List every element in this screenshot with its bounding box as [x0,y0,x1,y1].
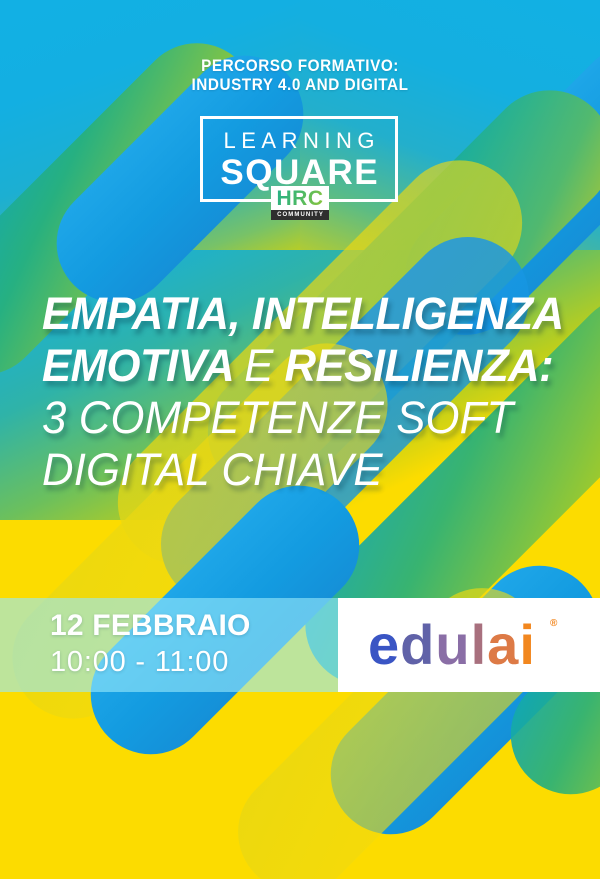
poster: PERCORSO FORMATIVO: INDUSTRY 4.0 AND DIG… [0,0,600,879]
edulai-letter-i-5: i [519,614,536,676]
headline-line-2: EMOTIVA E RESILIENZA: [42,340,556,392]
edulai-letter-u-2: u [435,614,470,676]
edulai-letter-e-0: e [368,614,400,676]
edulai-wordmark: edulai [368,614,536,676]
headline-line-4: DIGITAL CHIAVE [42,444,556,496]
event-date: 12 FEBBRAIO [50,608,251,644]
eyebrow-line-2: INDUSTRY 4.0 AND DIGITAL [30,75,570,94]
hrc-community-badge: HRC COMMUNITY [271,186,329,220]
hrc-letters: HRC [271,187,329,210]
event-time: 10:00 - 11:00 [50,644,251,680]
headline-block: EMPATIA, INTELLIGENZA EMOTIVA E RESILIEN… [42,288,572,496]
headline-line-1: EMPATIA, INTELLIGENZA [42,288,556,340]
eyebrow-text: PERCORSO FORMATIVO: INDUSTRY 4.0 AND DIG… [30,56,570,94]
hrc-community-text: COMMUNITY [271,211,329,219]
edulai-logo-panel: edulai ® [338,598,600,692]
headline-line-2-conjunction: E [244,340,273,391]
headline-line-3: 3 COMPETENZE SOFT [42,392,556,444]
edulai-letter-l-3: l [471,614,488,676]
eyebrow-line-1: PERCORSO FORMATIVO: [201,56,399,75]
headline-line-2-part-a: EMOTIVA [42,340,244,391]
edulai-letter-a-4: a [487,614,519,676]
logo-learning-text: LEARNING [203,128,395,153]
headline-line-2-part-c: RESILIENZA: [273,340,553,391]
event-date-block: 12 FEBBRAIO 10:00 - 11:00 [50,608,251,680]
edulai-letter-d-1: d [400,614,435,676]
registered-trademark-icon: ® [550,619,557,629]
